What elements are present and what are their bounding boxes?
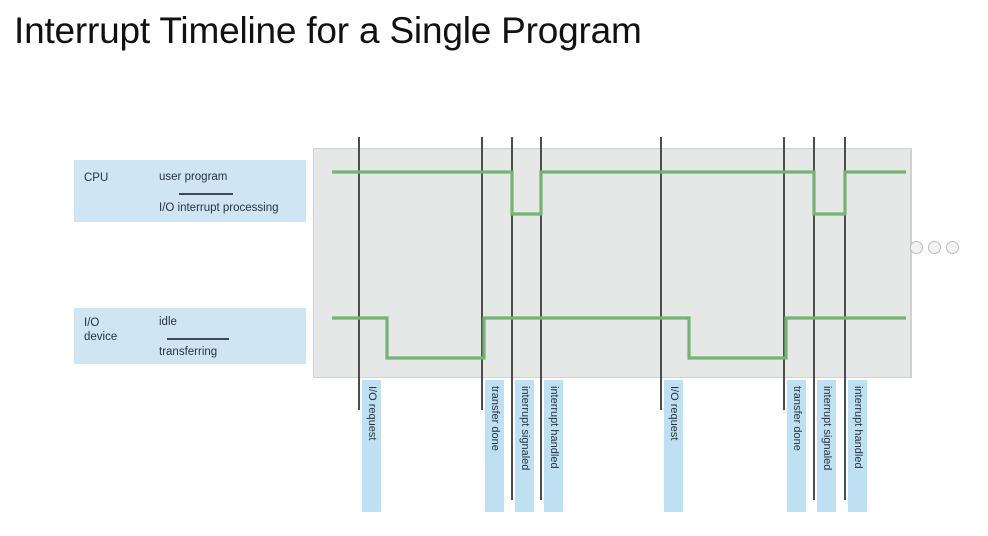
legend-io-divider: [167, 338, 229, 340]
event-label-text: interrupt signaled: [821, 386, 833, 470]
event-label-text: interrupt handled: [852, 386, 864, 469]
legend-cpu-row-label: CPU: [84, 172, 108, 185]
interrupt-timeline-figure: CPU user program I/O interrupt processin…: [0, 0, 988, 536]
event-label-strip: I/O request: [664, 380, 683, 512]
ellipsis-circle-icon: [910, 241, 923, 254]
event-marker-line: [813, 137, 815, 500]
event-marker-line: [511, 137, 513, 500]
event-label-strip: transfer done: [485, 380, 504, 512]
legend-io-state-high: idle: [159, 316, 177, 328]
event-label-strip: transfer done: [787, 380, 806, 512]
event-marker-line: [844, 137, 846, 500]
event-label-text: transfer done: [489, 386, 501, 451]
event-label-text: transfer done: [791, 386, 803, 451]
event-label-strip: interrupt signaled: [817, 380, 836, 512]
event-label-text: interrupt handled: [548, 386, 560, 469]
event-label-text: I/O request: [668, 386, 680, 440]
event-label-text: I/O request: [366, 386, 378, 440]
event-label-strip: interrupt signaled: [515, 380, 534, 512]
legend-cpu-divider: [179, 193, 233, 195]
event-label-strip: I/O request: [362, 380, 381, 512]
event-label-text: interrupt signaled: [519, 386, 531, 470]
event-label-strip: interrupt handled: [544, 380, 563, 512]
event-marker-line: [540, 137, 542, 500]
legend-cpu: CPU user program I/O interrupt processin…: [74, 160, 306, 222]
legend-io-row-label-line2: device: [84, 331, 117, 344]
legend-io-state-low: transferring: [159, 346, 217, 358]
event-marker-line: [358, 137, 360, 410]
event-marker-line: [481, 137, 483, 410]
continuation-ellipsis: [910, 241, 960, 257]
panel-right-edge: [911, 148, 912, 378]
slide-canvas: Interrupt Timeline for a Single Program …: [0, 0, 988, 536]
event-marker-line: [660, 137, 662, 410]
timeline-plot-panel: [313, 148, 911, 378]
legend-io-device: I/O device idle transferring: [74, 308, 306, 364]
ellipsis-circle-icon: [928, 241, 941, 254]
event-label-strip: interrupt handled: [848, 380, 867, 512]
ellipsis-circle-icon: [946, 241, 959, 254]
legend-cpu-state-high: user program: [159, 171, 227, 183]
legend-io-row-label-line1: I/O: [84, 317, 99, 330]
event-marker-line: [783, 137, 785, 410]
legend-cpu-state-low: I/O interrupt processing: [159, 202, 279, 214]
